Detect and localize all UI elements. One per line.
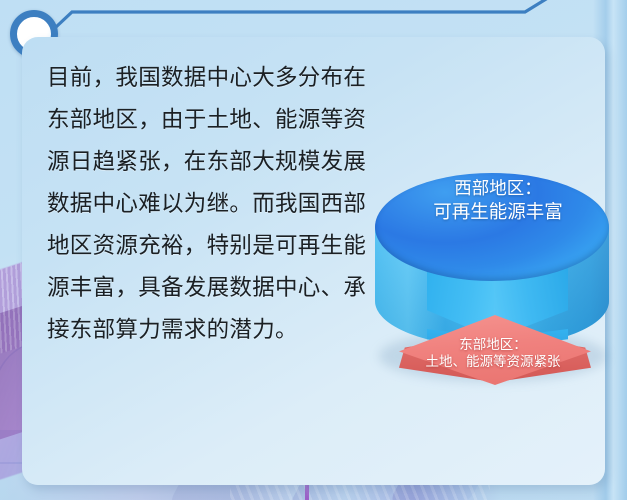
pie-label-east-line2: 土地、能源等资源紧张: [393, 354, 593, 371]
pie-label-west-line2: 可再生能源丰富: [407, 201, 589, 224]
pie-chart-3d: 西部地区： 可再生能源丰富 东部地区： 土地、能源等资源紧张: [367, 165, 622, 410]
body-paragraph: 目前，我国数据中心大多分布在东部地区，由于土地、能源等资源日趋紧张，在东部大规模…: [47, 57, 367, 351]
pie-label-east-line1: 东部地区：: [393, 337, 593, 354]
content-card: 目前，我国数据中心大多分布在东部地区，由于土地、能源等资源日趋紧张，在东部大规模…: [22, 37, 605, 485]
pie-label-east: 东部地区： 土地、能源等资源紧张: [393, 337, 593, 371]
pie-label-west-line1: 西部地区：: [407, 179, 589, 201]
pie-label-west: 西部地区： 可再生能源丰富: [407, 179, 589, 224]
slide-canvas: 目前，我国数据中心大多分布在东部地区，由于土地、能源等资源日趋紧张，在东部大规模…: [0, 0, 627, 500]
